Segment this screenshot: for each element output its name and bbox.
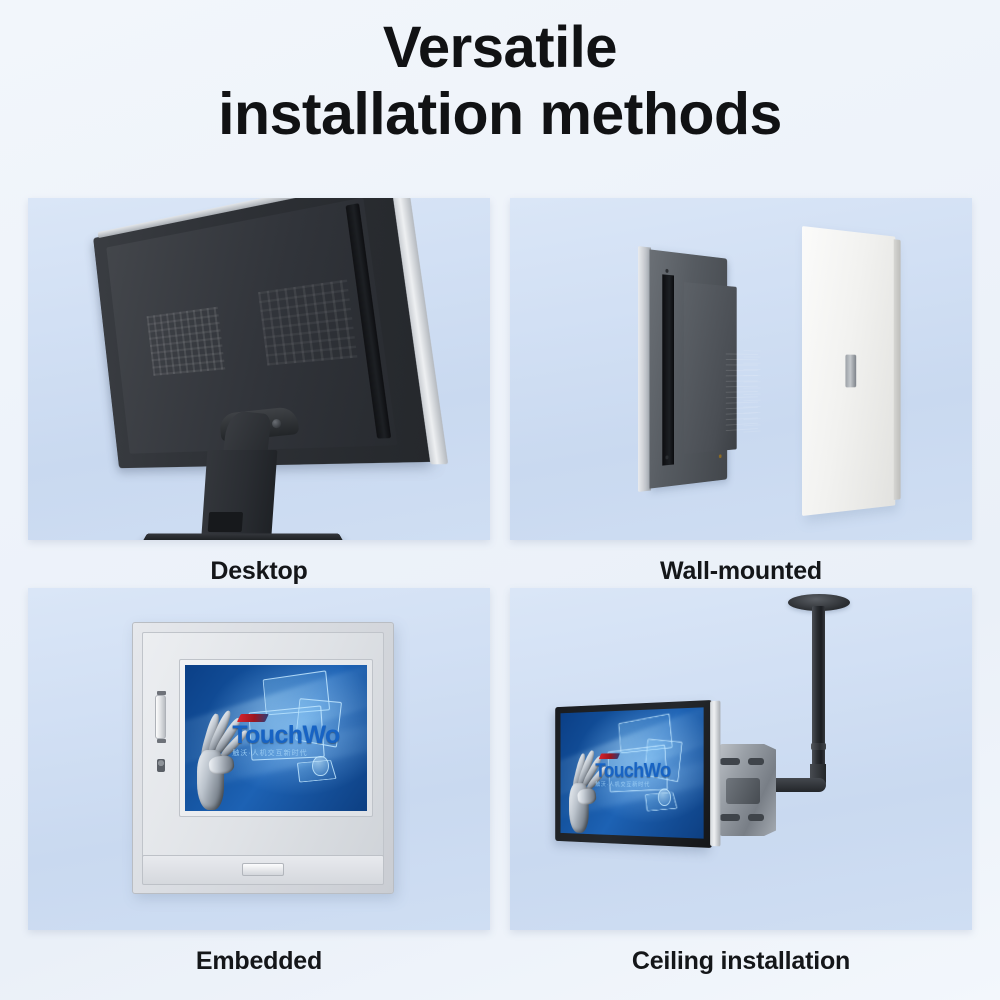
vesa-slot [720,814,740,821]
caption-wall-mounted: Wall-mounted [510,557,972,586]
cable-cutout [208,512,243,532]
cabinet-door: TouchWo 触沃·人机交互新时代 [142,632,384,858]
vesa-slot [720,758,740,765]
panel-ceiling-installation: TouchWo 触沃·人机交互新时代 Ceiling installation [510,588,972,976]
caption-embedded: Embedded [28,947,490,976]
touchwo-logo: TouchWo 触沃·人机交互新时代 [595,760,676,788]
panel-desktop: Desktop [28,198,490,586]
touchwo-logo-tagline: 触沃·人机交互新时代 [595,782,676,788]
cabinet-drawer [142,855,384,885]
embedded-screen-frame: TouchWo 触沃·人机交互新时代 [179,659,373,817]
caption-desktop: Desktop [28,557,490,586]
globe-icon [312,756,328,776]
vent-grille-right-icon [258,280,357,366]
page-title: Versatile installation methods [0,16,1000,147]
logo-accent-mark-icon [598,753,620,759]
vesa-slot [748,814,764,821]
panel-embedded: TouchWo 触沃·人机交互新时代 Embedded [28,588,490,976]
panel-wall-mounted: Wall-mounted [510,198,972,586]
ceiling-pole [812,606,825,788]
caption-ceiling-installation: Ceiling installation [510,947,972,976]
logo-accent-mark-icon [237,714,269,722]
monitor-frame: TouchWo 触沃·人机交互新时代 [555,700,712,848]
ceiling-monitor: TouchWo 触沃·人机交互新时代 [555,700,712,848]
touchwo-logo-text: TouchWo [232,723,339,748]
monitor-chassis [649,249,727,488]
vent-louvres-icon [743,350,760,434]
metal-cabinet: TouchWo 触沃·人机交互新时代 [132,622,394,894]
wall-bracket-icon [845,355,856,388]
vesa-slot [748,758,764,765]
photo-desktop [28,198,490,540]
pole-joint [811,743,826,750]
vent-grille-left-icon [147,307,226,376]
touchwo-logo-text: TouchWo [595,760,671,780]
wall-monitor-unit [638,246,727,492]
vesa-hub [726,778,760,804]
robot-thumb [577,787,597,805]
robot-thumb [208,755,235,777]
touchwo-logo-tagline: 触沃·人机交互新时代 [232,750,334,757]
stand-column [201,450,278,540]
screw-icon [719,454,722,458]
photo-embedded: TouchWo 触沃·人机交互新时代 [28,588,490,930]
hinge-bolt-icon [272,419,282,429]
screw-icon [665,269,668,273]
door-lock-icon [157,759,165,772]
photo-ceiling-installation: TouchWo 触沃·人机交互新时代 [510,588,972,930]
monitor-dark-recess [662,274,674,465]
stand-base-plate [141,533,346,540]
screen-wallpaper: TouchWo 触沃·人机交互新时代 [561,707,704,838]
touchwo-logo: TouchWo 触沃·人机交互新时代 [232,723,334,757]
wall-mounting-plate [802,226,895,516]
mount-arm [768,778,826,792]
title-line-1: Versatile [0,16,1000,81]
drawer-pull-icon [242,863,284,876]
title-line-2: installation methods [0,81,1000,147]
door-handle-icon [155,695,166,739]
monitor-side-edge [710,701,720,847]
wall-plate-edge [894,239,901,500]
screen-wallpaper: TouchWo 触沃·人机交互新时代 [185,665,367,811]
photo-wall-mounted [510,198,972,540]
monitor-rear-hump [684,282,737,454]
